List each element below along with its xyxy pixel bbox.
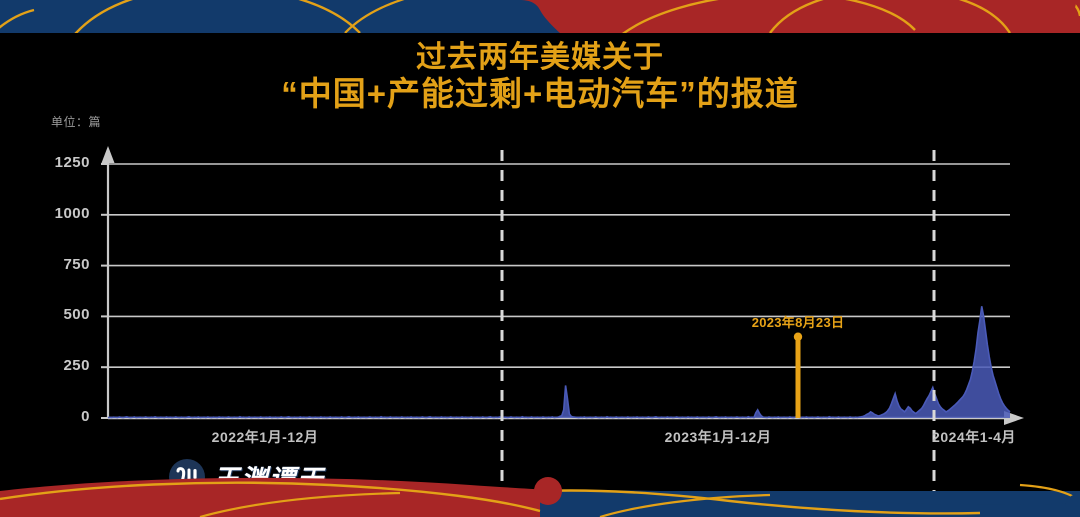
- bottom-banner-graphic: [0, 455, 1080, 517]
- x-axis-period-label: 2024年1-4月: [932, 427, 1016, 447]
- annotation-dot-marker: [794, 333, 802, 341]
- series-area: [108, 306, 1010, 418]
- chart-axes: [102, 146, 1025, 425]
- y-axis-tick-label: 500: [28, 306, 90, 323]
- chart-gridlines: [108, 164, 1010, 367]
- y-axis-tick-label: 750: [28, 256, 90, 273]
- y-axis-arrow: [102, 146, 115, 163]
- annotation-label: 2023年8月23日: [752, 312, 845, 331]
- infographic-canvas: 过去两年美媒关于 “中国+产能过剩+电动汽车”的报道 单位：篇 02505007…: [0, 0, 1080, 517]
- y-axis-tick-label: 0: [28, 408, 90, 425]
- x-axis-period-label: 2023年1月-12月: [665, 427, 772, 447]
- bottom-decorative-banner: [0, 455, 1080, 517]
- y-axis-tick-label: 1250: [28, 154, 90, 171]
- series-line: [108, 306, 1010, 417]
- chart-annotation-marker: [794, 333, 802, 418]
- chart-plot-area: [0, 0, 1080, 517]
- y-axis-tick-label: 250: [28, 357, 90, 374]
- x-axis-period-label: 2022年1月-12月: [212, 427, 319, 447]
- chart-series-layer: [108, 306, 1010, 418]
- y-axis-tick-label: 1000: [28, 205, 90, 222]
